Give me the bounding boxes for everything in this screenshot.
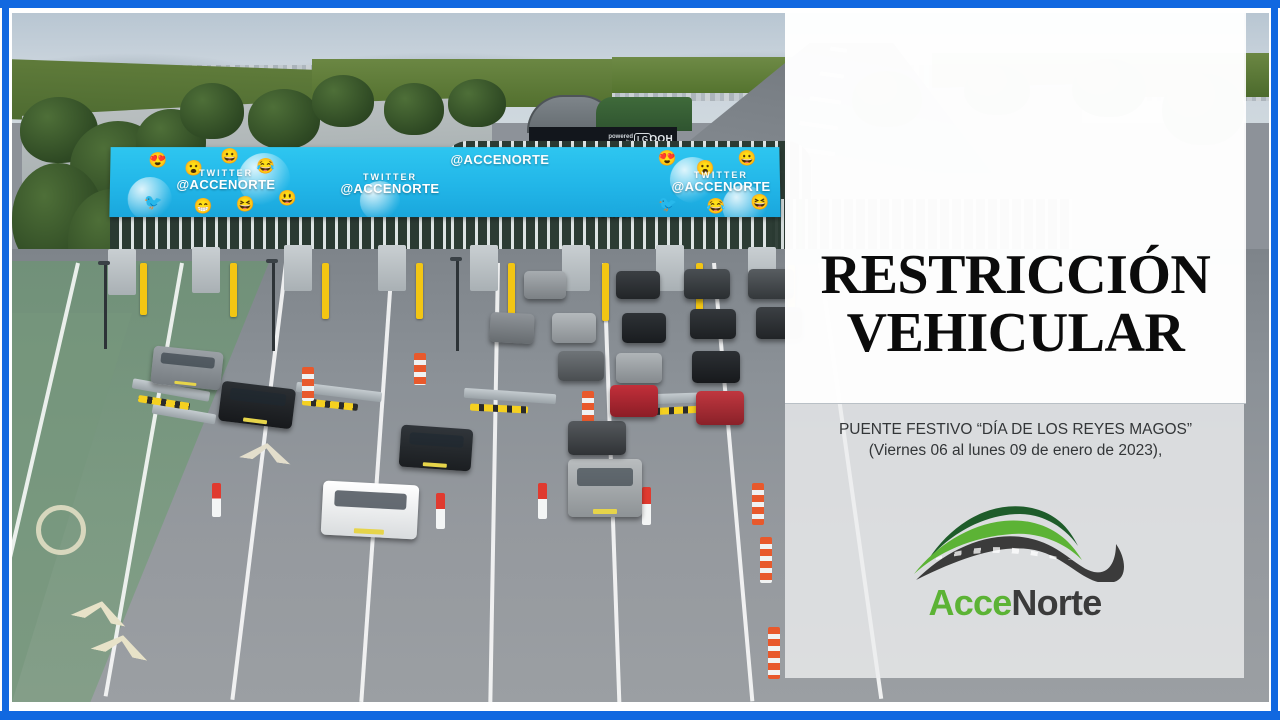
vehicle-red [696,391,744,425]
vehicle [489,312,535,344]
emoji-icon: 😁 [194,199,213,214]
vehicle [150,345,224,390]
emoji-icon: 😍 [148,153,167,168]
tree-cluster [384,83,444,135]
toll-booth [470,245,498,291]
twitter-handle-mid: TWITTER @ACCENORTE [320,173,460,196]
toll-booth [192,247,220,293]
title-line-1: RESTRICCIÓN [785,246,1246,304]
red-white-bollard [538,483,547,519]
tree-cluster [312,75,374,127]
emoji-icon: 😀 [220,149,239,164]
red-white-bollard [436,493,445,529]
traffic-cone [768,627,780,679]
vehicle-plate [174,380,197,386]
vehicle-plate [243,418,267,424]
subtitle-line-2: (Viernes 06 al lunes 09 de enero de 2023… [785,440,1246,461]
twitter-handle-center: @ACCENORTE [410,153,590,167]
twitter-handle-left: TWITTER @ACCENORTE [146,169,306,192]
vehicle [616,353,662,383]
traffic-cone [582,391,594,425]
vehicle [524,271,566,299]
emoji-icon: 🐦 [658,197,677,212]
vehicle-plate [593,509,617,514]
yellow-barrier-post [322,263,329,319]
road-circle-marking [36,505,86,555]
vehicle [399,425,474,472]
frame-border-bottom [0,711,1280,720]
toll-booth [656,245,684,291]
yellow-barrier-post [230,263,237,317]
toll-booth [284,245,312,291]
vehicle-window [161,352,215,369]
title-line-2: VEHICULAR [785,304,1246,362]
vehicle [616,271,660,299]
vehicle-plate [353,529,384,535]
lamp-post [456,259,459,351]
vehicle-truck [568,459,642,517]
vehicle [552,313,596,343]
toll-booth [108,249,136,295]
vehicle-red [610,385,658,417]
vehicle [568,421,626,455]
vehicle-window [229,388,286,407]
yellow-barrier-post [140,263,147,315]
wordmark-acce: Acce [929,582,1012,623]
accenorte-logo: AcceNorte [880,502,1150,642]
vehicle [692,351,740,383]
emoji-icon: 😍 [658,151,677,166]
accenorte-wordmark: AcceNorte [880,582,1150,624]
emoji-icon: 😃 [278,191,297,206]
emoji-icon: 🐦 [144,195,163,210]
page-title: RESTRICCIÓN VEHICULAR [785,246,1246,362]
yellow-barrier-post [602,263,609,321]
toll-booth [378,245,406,291]
tree-cluster [180,83,244,139]
vehicle [622,313,666,343]
poster-canvas: powered by LG OOH AcceNorte 😍 😮 � [0,0,1280,720]
frame-border-top [0,0,1280,8]
traffic-cone [302,367,314,401]
twitter-handle-right: TWITTER @ACCENORTE [656,171,781,194]
vehicle-white-suv [321,481,420,540]
red-white-bollard [212,483,221,517]
frame-border-right [1271,0,1278,720]
overhead-green-structure [596,97,692,131]
emoji-icon: 😀 [737,151,756,166]
subtitle-line-1: PUENTE FESTIVO “DÍA DE LOS REYES MAGOS” [785,419,1246,440]
subtitle: PUENTE FESTIVO “DÍA DE LOS REYES MAGOS” … [785,419,1246,462]
tree-cluster [448,79,506,127]
lamp-head-icon [98,261,110,265]
frame-border-left [2,0,9,720]
emoji-icon: 😂 [706,199,725,214]
vehicle-window [409,432,464,448]
accenorte-swoosh-icon [900,502,1130,580]
led-banner: 😍 😮 😀 😂 🐦 😁 😆 😃 😍 😮 😀 🐦 😂 😆 TWITTER @ACC… [109,147,780,217]
traffic-cone [414,353,426,385]
emoji-icon: 😆 [236,197,255,212]
emoji-icon: 😆 [750,195,769,210]
vehicle [690,309,736,339]
vehicle-window [334,490,408,510]
lamp-post [104,263,107,349]
vehicle-plate [423,462,446,467]
traffic-cone [752,483,764,525]
red-white-bollard [642,487,651,525]
vehicle [684,269,730,299]
toll-booth [562,245,590,291]
yellow-barrier-post [416,263,423,319]
lamp-head-icon [266,259,278,263]
lamp-post [272,261,275,351]
vehicle-window [577,468,633,485]
led-gantry: 😍 😮 😀 😂 🐦 😁 😆 😃 😍 😮 😀 🐦 😂 😆 TWITTER @ACC… [110,133,780,221]
vehicle [558,351,604,381]
wordmark-norte: Norte [1011,582,1101,623]
traffic-cone [760,537,772,583]
lamp-head-icon [450,257,462,261]
